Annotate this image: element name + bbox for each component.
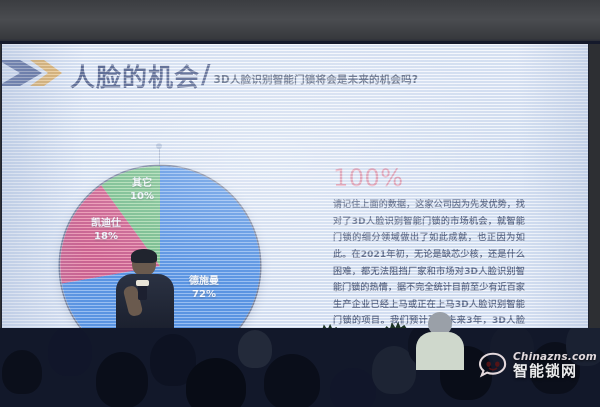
watermark: Chinazns.com 智能锁网 [478, 352, 597, 379]
audience-head [48, 328, 92, 376]
microphone-icon [138, 284, 147, 300]
watermark-text: Chinazns.com 智能锁网 [513, 352, 597, 379]
slide-text-column: 100% 请记住上面的数据，这家公司因为先发优势，找对了3D人脸识别智能门锁的市… [333, 166, 525, 328]
audience-head [186, 358, 246, 407]
watermark-site: Chinazns.com [513, 352, 597, 363]
chevron-accent-icon [30, 58, 64, 88]
slide-header: 人脸的机会 / 3D人脸识别智能门锁将会是未来的机会吗? [12, 58, 418, 90]
ceiling-band [0, 0, 600, 44]
audience-head [264, 354, 320, 407]
presenter-silhouette [112, 250, 178, 330]
lock-mascot-icon [478, 352, 508, 378]
slide-title: 人脸的机会 [70, 65, 200, 90]
slide-subtitle: 3D人脸识别智能门锁将会是未来的机会吗? [214, 72, 419, 87]
projection-screen: 人脸的机会 / 3D人脸识别智能门锁将会是未来的机会吗? 德施曼 72% [2, 44, 588, 328]
presenter-hair [131, 249, 157, 263]
highlight-stat: 100% [333, 166, 525, 190]
watermark-name: 智能锁网 [513, 364, 597, 379]
title-slash: / [201, 60, 211, 90]
slide-body-text: 请记住上面的数据，这家公司因为先发优势，找对了3D人脸识别智能门锁的市场机会，就… [333, 197, 525, 328]
seated-attendee [416, 312, 464, 368]
chevron-arrow-icon [12, 58, 68, 88]
screenshot-root: 人脸的机会 / 3D人脸识别智能门锁将会是未来的机会吗? 德施曼 72% [0, 0, 600, 407]
audience-head [96, 352, 148, 407]
audience-head [330, 368, 376, 407]
audience-head [2, 350, 42, 394]
attendee-shirt [416, 332, 464, 370]
audience-head [238, 330, 272, 368]
